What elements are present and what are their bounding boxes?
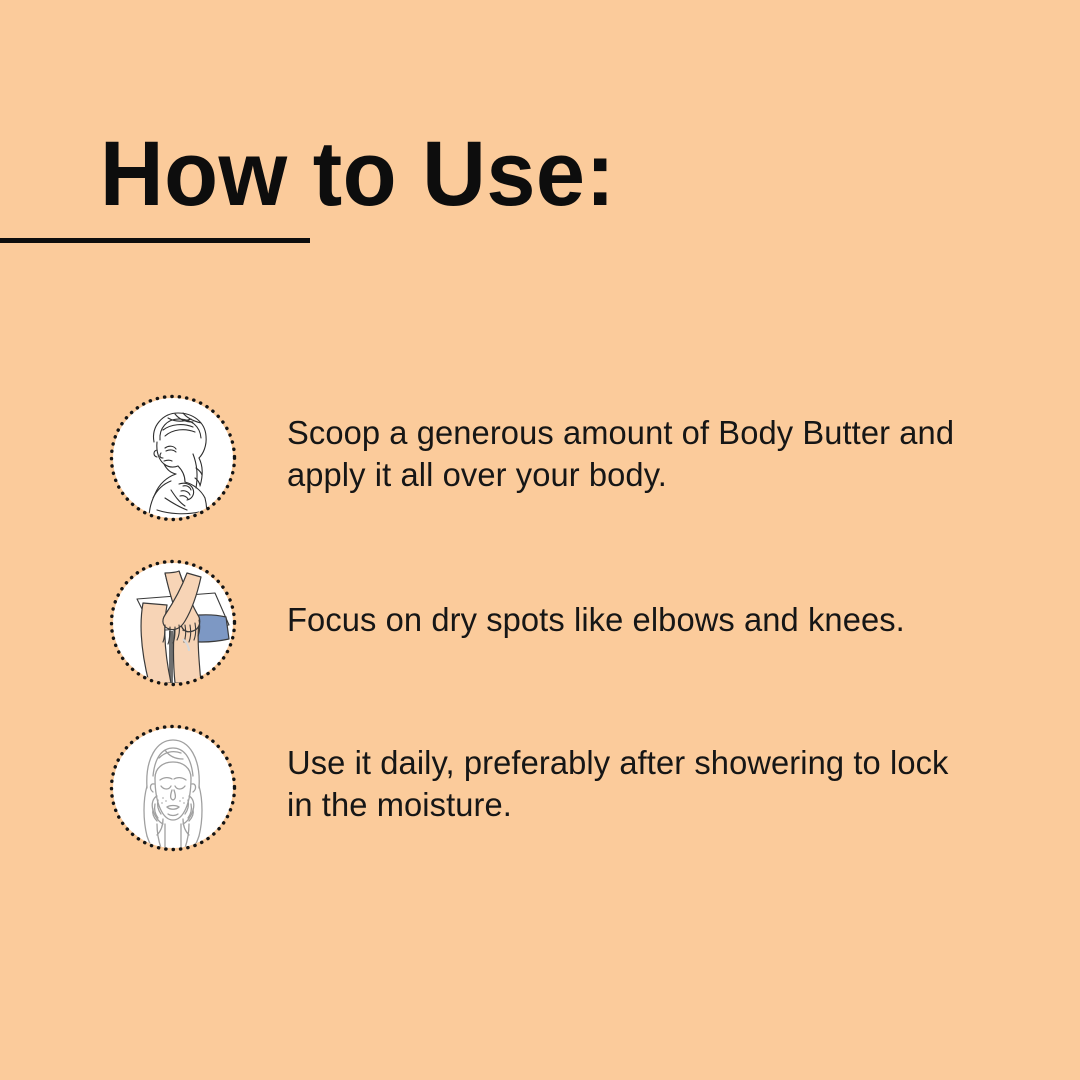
- list-item: Focus on dry spots like elbows and knees…: [0, 563, 1080, 728]
- step-3-icon-circle: [113, 728, 233, 848]
- step-1-icon-circle: [113, 398, 233, 518]
- step-2-text: Focus on dry spots like elbows and knees…: [287, 599, 980, 641]
- header: How to Use:: [0, 128, 1080, 220]
- step-2-icon-circle: [113, 563, 233, 683]
- page-title: How to Use:: [0, 128, 1037, 220]
- list-item: Use it daily, preferably after showering…: [0, 728, 1080, 893]
- woman-face-hands-on-cheeks-icon: [113, 728, 233, 848]
- title-underline-rule: [0, 238, 310, 243]
- hands-applying-lotion-to-legs-icon: [113, 563, 233, 683]
- steps-list: Scoop a generous amount of Body Butter a…: [0, 398, 1080, 893]
- step-1-text: Scoop a generous amount of Body Butter a…: [287, 412, 980, 496]
- how-to-use-card: How to Use:: [0, 0, 1080, 1080]
- step-3-text: Use it daily, preferably after showering…: [287, 742, 980, 826]
- list-item: Scoop a generous amount of Body Butter a…: [0, 398, 1080, 563]
- woman-applying-lotion-to-arm-icon: [113, 398, 233, 518]
